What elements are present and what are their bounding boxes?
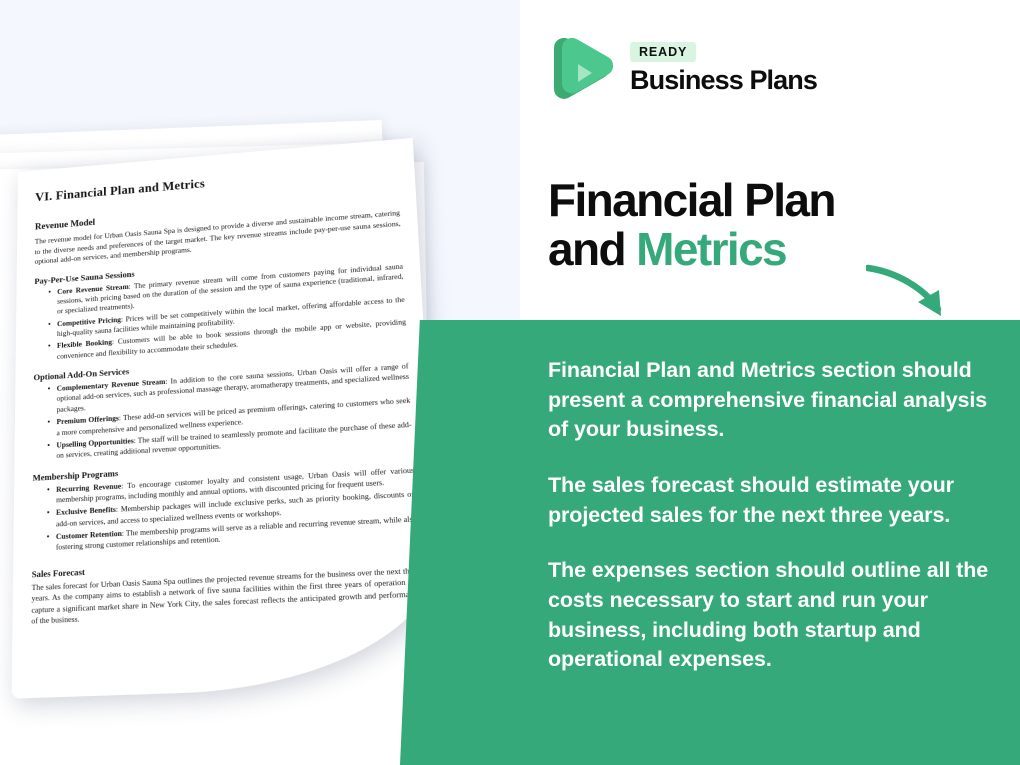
brand-name: Business Plans xyxy=(630,65,817,96)
panel-paragraph-2: The sales forecast should estimate your … xyxy=(548,471,998,530)
play-triangle-logo-icon xyxy=(548,34,616,104)
brand-header: READY Business Plans xyxy=(548,34,817,104)
document-page-front: VI. Financial Plan and Metrics Revenue M… xyxy=(12,138,445,699)
curved-arrow-down-right-icon xyxy=(866,262,976,326)
headline-line-1: Financial Plan xyxy=(548,174,835,226)
headline-line-2-accent: Metrics xyxy=(636,223,786,275)
page-title: Financial Plan and Metrics xyxy=(548,176,1008,274)
document-page-front-wrapper: VI. Financial Plan and Metrics Revenue M… xyxy=(18,172,410,692)
panel-paragraph-1: Financial Plan and Metrics section shoul… xyxy=(548,356,998,445)
panel-paragraph-3: The expenses section should outline all … xyxy=(548,556,998,675)
ready-badge: READY xyxy=(630,42,696,62)
brand-text-block: READY Business Plans xyxy=(630,42,817,96)
headline-line-2-plain: and xyxy=(548,223,636,275)
green-panel-content: Financial Plan and Metrics section shoul… xyxy=(548,320,1020,765)
